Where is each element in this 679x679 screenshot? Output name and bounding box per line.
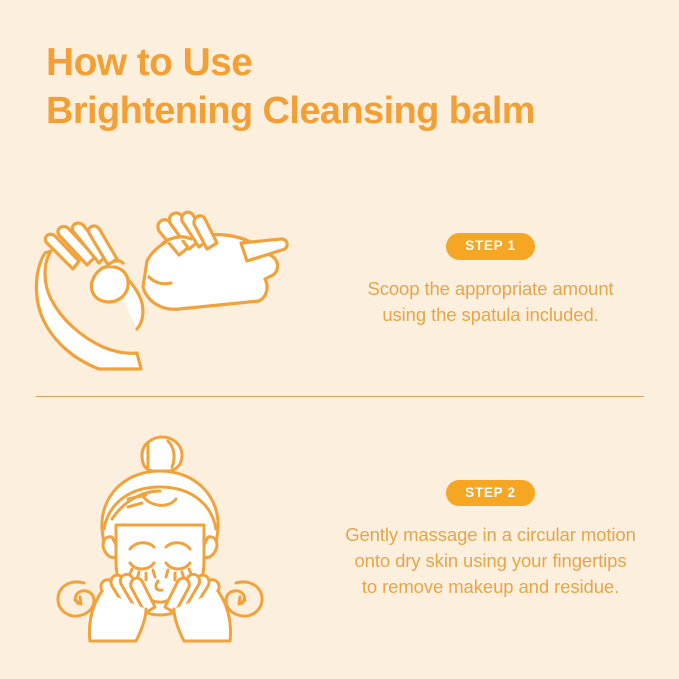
step-2-description: Gently massage in a circular motion onto… [345,522,636,600]
step-1-description: Scoop the appropriate amount using the s… [367,276,613,328]
step-1-illustration-container [0,191,320,371]
step-2-description-line-3: to remove makeup and residue. [345,574,636,600]
woman-massaging-face-icon [50,433,270,648]
page-title: How to Use Brightening Cleansing balm [46,38,646,136]
how-to-use-infographic: How to Use Brightening Cleansing balm [0,0,679,679]
step-2-section: STEP 2 Gently massage in a circular moti… [0,420,679,660]
step-2-badge: STEP 2 [446,480,534,507]
step-1-description-line-2: using the spatula included. [367,302,613,328]
title-line-1: How to Use [46,38,646,87]
step-2-illustration-container [0,433,320,648]
step-2-text-container: STEP 2 Gently massage in a circular moti… [320,480,679,601]
step-1-text-container: STEP 1 Scoop the appropriate amount usin… [320,233,679,328]
hands-scooping-balm-with-spatula-icon [29,191,291,371]
step-2-description-line-1: Gently massage in a circular motion [345,522,636,548]
step-1-description-line-1: Scoop the appropriate amount [367,276,613,302]
step-1-section: STEP 1 Scoop the appropriate amount usin… [0,178,679,383]
section-divider [36,396,644,397]
step-2-description-line-2: onto dry skin using your fingertips [345,548,636,574]
step-1-badge: STEP 1 [446,233,534,260]
title-line-2: Brightening Cleansing balm [46,87,646,136]
